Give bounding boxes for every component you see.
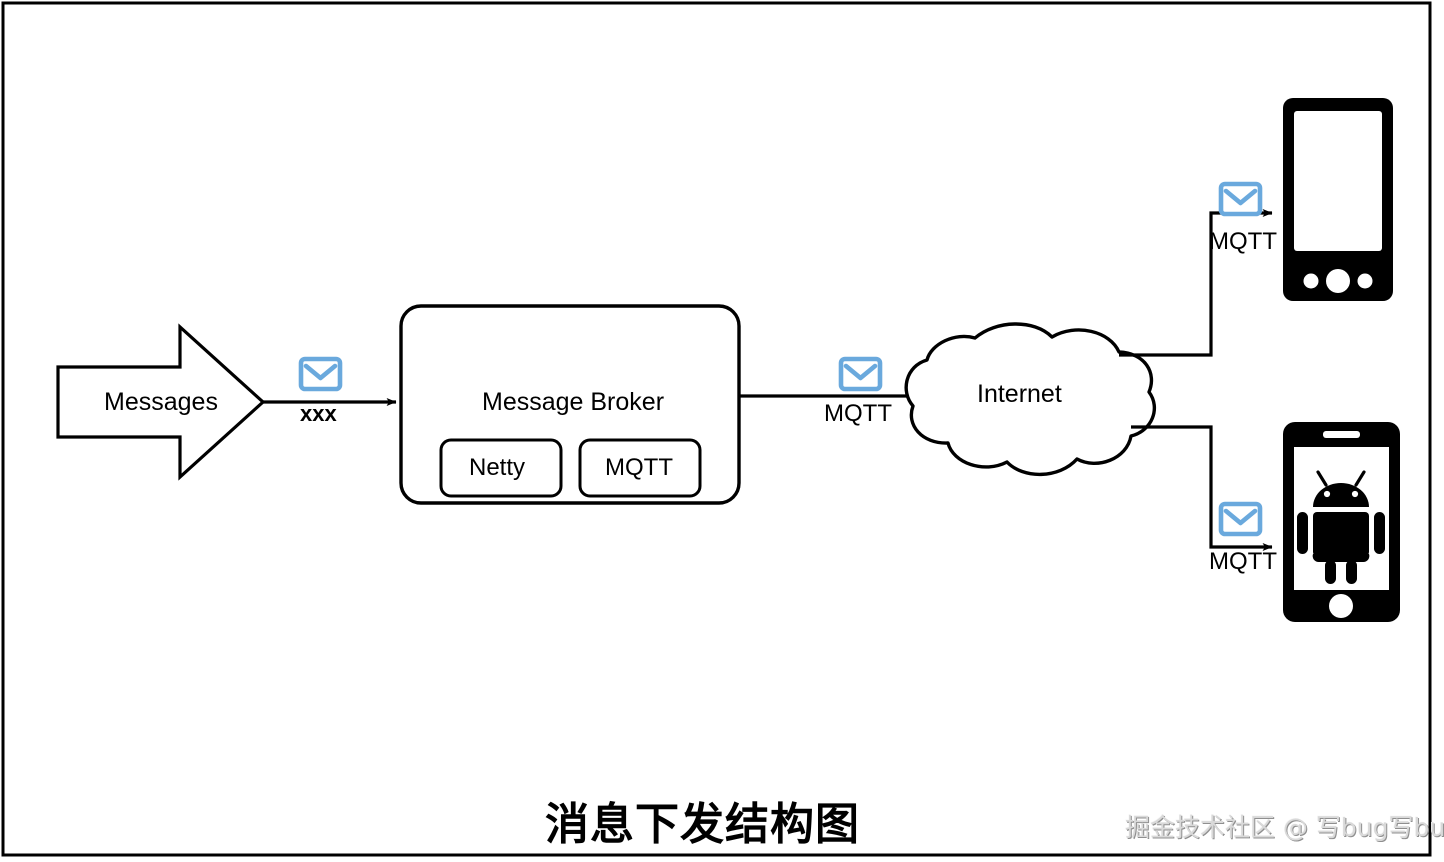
edge-label-internet-to-phone-bottom: MQTT	[1209, 548, 1277, 576]
watermark: 掘金技术社区 @ 写bug写bug	[1125, 808, 1444, 844]
broker-component-mqtt-label: MQTT	[605, 454, 673, 482]
edge-label-broker-to-internet: MQTT	[824, 400, 892, 428]
message-broker-label: Message Broker	[482, 388, 664, 417]
envelope-icon-phone-bottom	[1221, 504, 1260, 534]
envelope-icon-phone-top	[1221, 184, 1260, 214]
phone-top	[1283, 98, 1393, 301]
phone-bottom-speaker	[1323, 431, 1360, 438]
diagram-caption: 消息下发结构图	[545, 788, 860, 852]
broker-component-netty-label: Netty	[469, 454, 525, 482]
envelope-icon-broker-out	[841, 359, 880, 389]
phone-top-button-left	[1304, 274, 1319, 289]
phone-bottom	[1283, 422, 1400, 622]
messages-arrow-label: Messages	[104, 388, 218, 417]
edge-label-internet-to-phone-top: MQTT	[1209, 228, 1277, 256]
phone-top-button-home	[1326, 269, 1350, 293]
diagram-canvas: Messages xxx Message Broker Netty MQTT M…	[0, 0, 1444, 862]
diagram-svg	[0, 0, 1444, 862]
edge-label-xxx: xxx	[300, 401, 337, 427]
internet-cloud-label: Internet	[977, 380, 1062, 409]
phone-top-button-right	[1358, 274, 1373, 289]
phone-bottom-home-button	[1329, 594, 1353, 618]
envelope-icon-messages	[301, 359, 340, 389]
